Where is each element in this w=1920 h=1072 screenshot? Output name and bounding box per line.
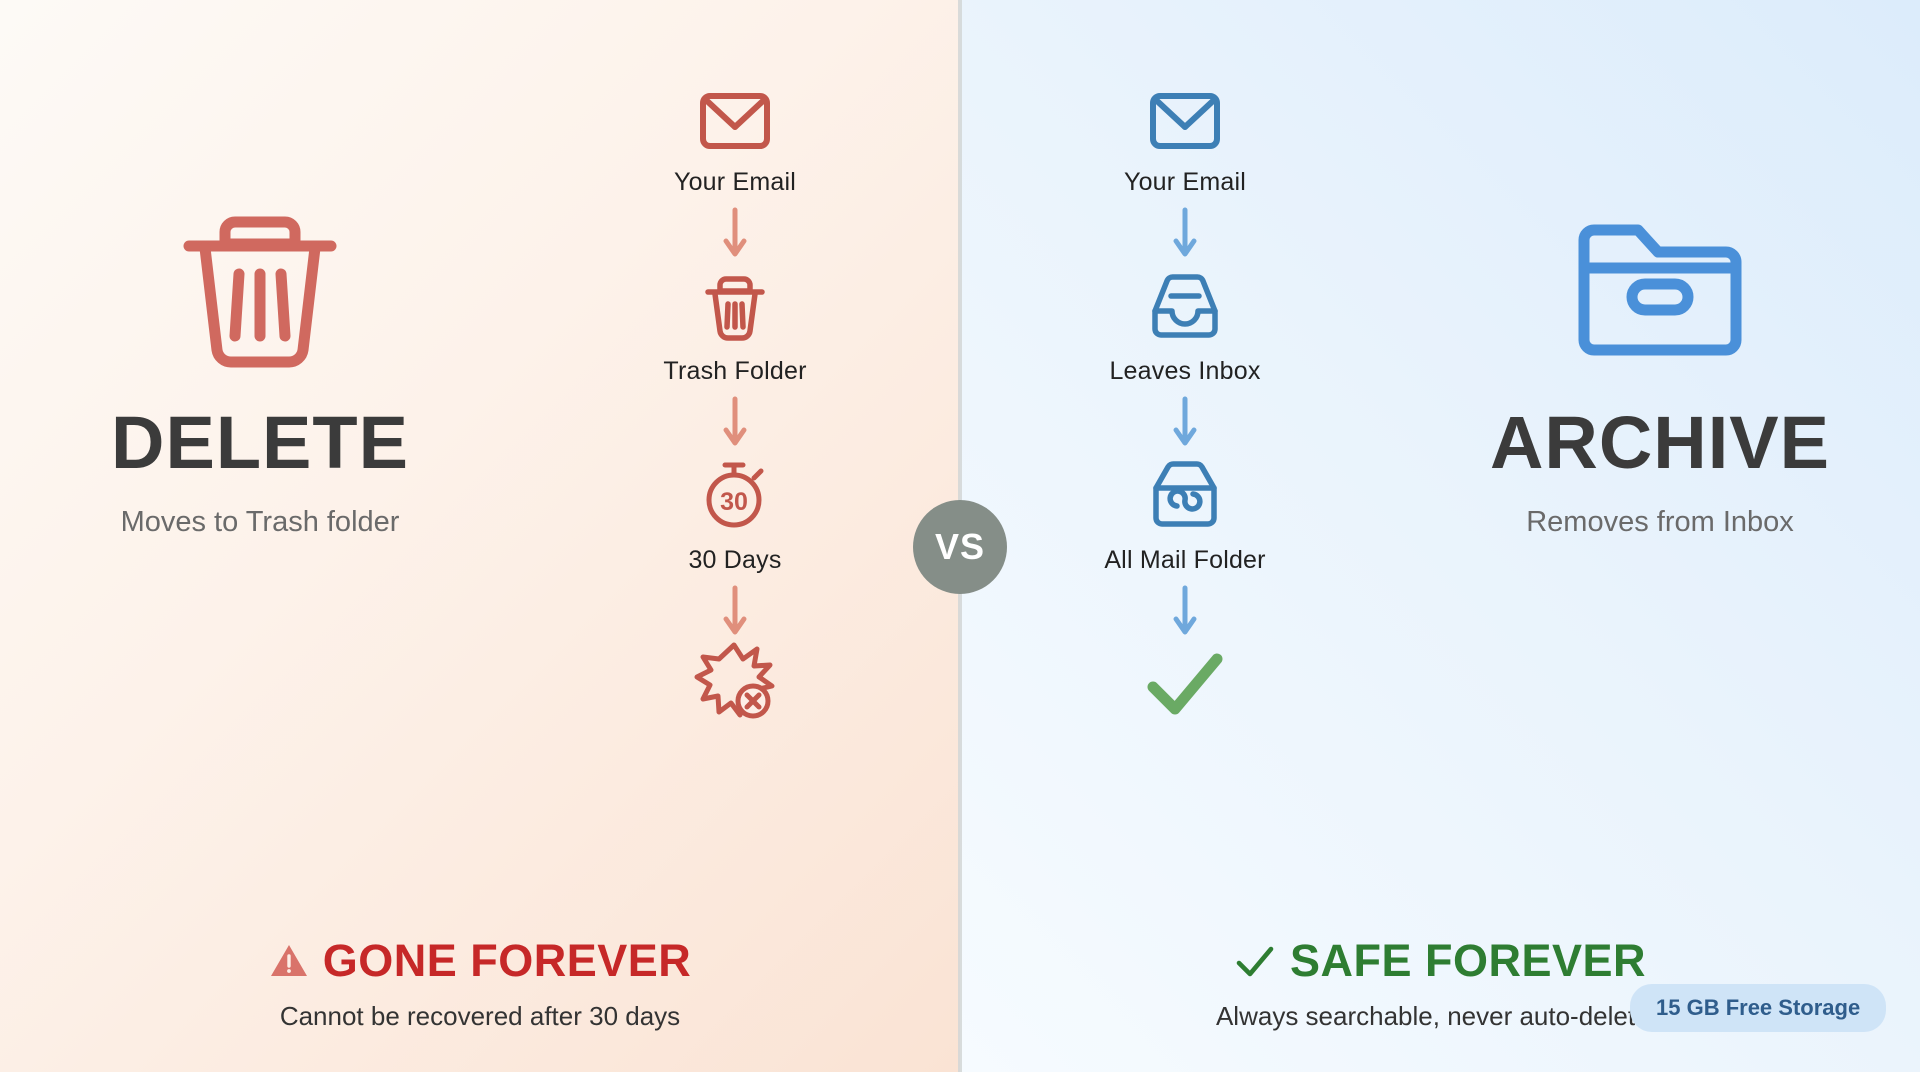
- flow-step-preserved: [1065, 645, 1305, 719]
- flow-step-label: 30 Days: [688, 546, 781, 575]
- flow-step-leaves-inbox: Leaves Inbox: [1065, 267, 1305, 386]
- archive-box-infinity-icon: [1145, 456, 1225, 530]
- flow-step-your-email: Your Email: [615, 78, 855, 197]
- arrow-down-icon: [615, 390, 855, 456]
- delete-verdict: GONE FOREVER Cannot be recovered after 3…: [0, 935, 960, 1032]
- delete-subtitle: Moves to Trash folder: [60, 506, 460, 539]
- folder-icon: [1460, 190, 1860, 370]
- inbox-tray-icon: [1145, 267, 1225, 341]
- archive-title: ARCHIVE: [1460, 406, 1860, 480]
- archive-hero: ARCHIVE Removes from Inbox: [1460, 190, 1860, 539]
- arrow-down-icon: [1065, 201, 1305, 267]
- arrow-down-icon: [1065, 390, 1305, 456]
- flow-step-label: Trash Folder: [663, 357, 806, 386]
- delete-title: DELETE: [60, 406, 460, 480]
- envelope-icon: [1148, 78, 1222, 152]
- trash-can-icon: [702, 267, 768, 341]
- delete-hero: DELETE Moves to Trash folder: [60, 190, 460, 539]
- flow-step-label: All Mail Folder: [1104, 546, 1265, 575]
- flow-step-all-mail-folder: All Mail Folder: [1065, 456, 1305, 575]
- delete-verdict-subtext: Cannot be recovered after 30 days: [0, 1001, 960, 1032]
- arrow-down-icon: [615, 201, 855, 267]
- storage-badge: 15 GB Free Storage: [1630, 984, 1886, 1032]
- stopwatch-value: 30: [720, 488, 748, 516]
- explosion-x-icon: [693, 645, 777, 719]
- flow-step-trash-folder: Trash Folder: [615, 267, 855, 386]
- delete-flow: Your Email: [615, 78, 855, 719]
- versus-badge: VS: [913, 500, 1007, 594]
- storage-badge-label: 15 GB Free Storage: [1656, 995, 1860, 1020]
- archive-subtitle: Removes from Inbox: [1460, 506, 1860, 539]
- stopwatch-30-icon: 30: [697, 456, 773, 530]
- envelope-icon: [698, 78, 772, 152]
- archive-flow: Your Email Leaves Inbox: [1065, 78, 1305, 719]
- warning-triangle-icon: [269, 942, 309, 980]
- check-mark-icon: [1234, 942, 1276, 980]
- flow-step-destroyed: [615, 645, 855, 719]
- trash-can-icon: [60, 190, 460, 370]
- arrow-down-icon: [615, 579, 855, 645]
- flow-step-label: Your Email: [674, 168, 796, 197]
- flow-step-label: Your Email: [1124, 168, 1246, 197]
- versus-label: VS: [935, 526, 985, 568]
- flow-step-your-email: Your Email: [1065, 78, 1305, 197]
- archive-verdict-headline: SAFE FOREVER: [1290, 935, 1646, 987]
- check-mark-icon: [1143, 645, 1227, 719]
- flow-step-30-days: 30 30 Days: [615, 456, 855, 575]
- flow-step-label: Leaves Inbox: [1109, 357, 1260, 386]
- infographic-canvas: DELETE Moves to Trash folder ARCHIVE Rem…: [0, 0, 1920, 1072]
- arrow-down-icon: [1065, 579, 1305, 645]
- delete-verdict-headline: GONE FOREVER: [323, 935, 692, 987]
